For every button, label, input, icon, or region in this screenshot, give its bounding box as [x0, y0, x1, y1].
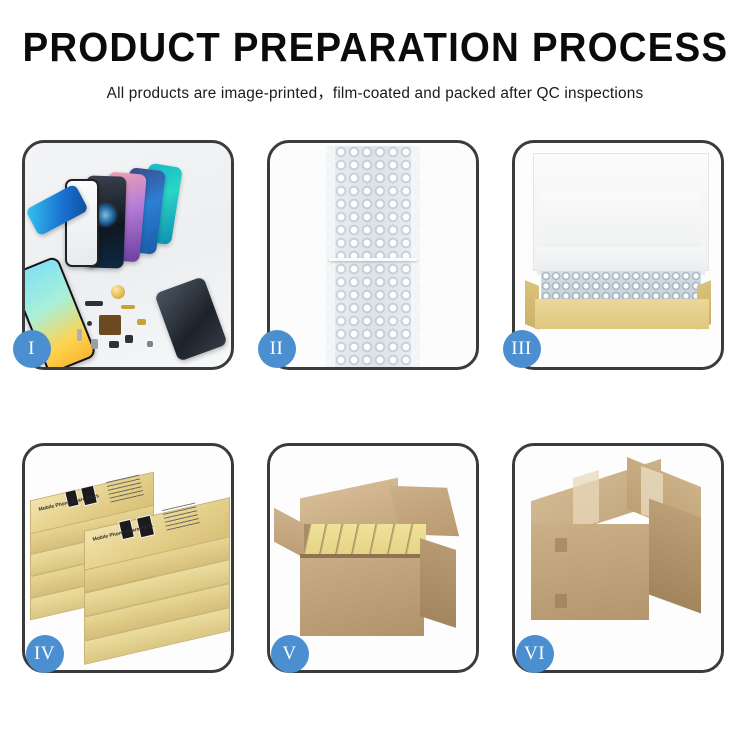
sealed-carton-front-icon [531, 524, 649, 620]
part-connector-icon [125, 335, 133, 343]
part-button-icon [147, 341, 153, 347]
part-flex-cable-icon [85, 301, 103, 306]
bubble-wrap-icon [326, 146, 420, 367]
part-speaker-icon [109, 341, 119, 348]
part-screw-icon [77, 329, 82, 341]
step-cell-1: I [8, 140, 253, 378]
carton-handle-notch-bottom [555, 594, 567, 608]
part-camera-icon [87, 321, 92, 326]
step-cell-6: VI [498, 443, 743, 681]
step-cell-5: V [253, 443, 498, 681]
step-image-carton-filling [270, 446, 476, 670]
step-badge-4: IV [26, 635, 64, 673]
bubble-wrap-in-box-icon [541, 271, 701, 301]
part-gold-contact-icon [137, 319, 146, 325]
step-image-products-and-spare-parts [25, 143, 231, 367]
step-image-sealed-carton [515, 446, 721, 670]
carton-side-face-icon [420, 538, 456, 628]
carton-front-face-icon [300, 558, 424, 636]
step-panel-bubble-wrap-packing [267, 140, 479, 370]
step-badge-6: VI [516, 635, 554, 673]
box-stack-icon: Mobile Phone Spare Parts Mobile Phone Sp… [28, 460, 231, 668]
step-badge-1: I [13, 330, 51, 368]
sealed-carton-side-icon [649, 499, 701, 614]
step-cell-2: II [253, 140, 498, 378]
step-cell-3: III [498, 140, 743, 378]
step-badge-3: III [503, 330, 541, 368]
step-panel-products-and-spare-parts [22, 140, 234, 370]
page-title: PRODUCT PREPARATION PROCESS [23, 26, 728, 69]
process-steps-grid: I II III [0, 140, 750, 700]
box-front-panel-icon [535, 299, 709, 329]
bubble-wrap-seam [329, 258, 417, 261]
step-panel-inner-box-packing [512, 140, 724, 370]
packing-tape-icon [573, 470, 599, 530]
step-badge-5: V [271, 635, 309, 673]
phone-back-housing-icon [154, 276, 227, 361]
part-ribbon-icon [121, 305, 135, 309]
step-image-inner-box-packing [515, 143, 721, 367]
step-cell-4: Mobile Phone Spare Parts Mobile Phone Sp… [8, 443, 253, 681]
part-logic-board-icon [99, 315, 121, 335]
step-image-stacked-inner-boxes: Mobile Phone Spare Parts Mobile Phone Sp… [25, 446, 231, 670]
step-badge-2: II [258, 330, 296, 368]
page-subtitle: All products are image-printed，film-coat… [4, 81, 747, 103]
part-sim-tray-icon [91, 339, 98, 349]
page-header: PRODUCT PREPARATION PROCESS All products… [0, 0, 750, 103]
carton-handle-notch-top [555, 538, 567, 552]
step-image-bubble-wrap-packing [270, 143, 476, 367]
vibration-motor-icon [111, 285, 125, 299]
